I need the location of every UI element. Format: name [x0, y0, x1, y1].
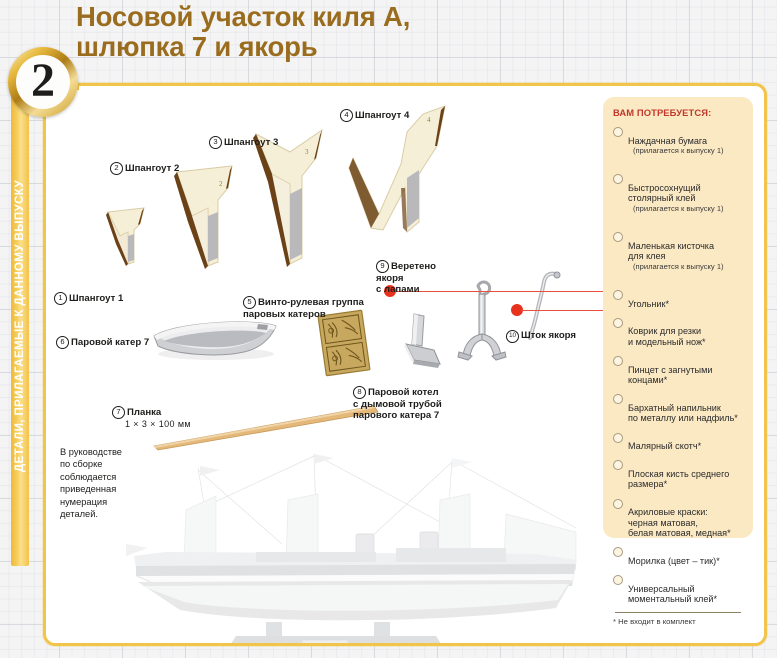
requirement-text: Маленькая кисточка для клея (прилагается… [628, 230, 724, 281]
part-name-6: Паровой катер 7 [71, 337, 149, 348]
requirement-label: Универсальный моментальный клей* [628, 584, 717, 605]
part-image-etched-fret [321, 312, 367, 374]
part-number-5: 5 [243, 296, 256, 309]
part-number-8: 8 [353, 386, 366, 399]
issue-number-badge-inner: 2 [16, 55, 70, 109]
requirement-label: Угольник* [628, 299, 669, 309]
part-dimension-7: 1 × 3 × 100 мм [112, 419, 191, 431]
part-label-3: 3Шпангоут 3 [209, 124, 278, 149]
part-name-5: Винто-рулевая группа паровых катеров [243, 297, 364, 320]
part-label-8: 8Паровой котел с дымовой трубой парового… [353, 374, 503, 422]
checkbox-icon[interactable] [613, 547, 623, 557]
part-number-10: 10 [506, 330, 519, 343]
requirements-footnote: * Не входит в комплект [613, 617, 743, 626]
checkbox-icon[interactable] [613, 356, 623, 366]
requirements-panel: ВАМ ПОТРЕБУЕТСЯ: Наждачная бумага (прила… [603, 97, 753, 538]
part-label-2: 2Шпангоут 2 [110, 150, 179, 175]
part-label-1: 1Шпангоут 1 [54, 280, 123, 305]
part-image-frame-4: 4 [345, 102, 451, 240]
checkbox-icon[interactable] [613, 460, 623, 470]
requirement-item[interactable]: Коврик для резки и модельный нож* [613, 316, 743, 348]
requirement-label: Плоская кисть среднего размера* [628, 469, 729, 490]
checkbox-icon[interactable] [613, 290, 623, 300]
part-name-8: Паровой котел с дымовой трубой парового … [353, 387, 442, 422]
part-number-6: 6 [56, 336, 69, 349]
part-image-frame-1 [104, 206, 150, 268]
requirement-item[interactable]: Акриловые краски: черная матовая, белая … [613, 497, 743, 539]
checkbox-icon[interactable] [613, 318, 623, 328]
requirement-label: Акриловые краски: черная матовая, белая … [628, 507, 731, 538]
part-number-9: 9 [376, 260, 389, 273]
checkbox-icon[interactable] [613, 433, 623, 443]
requirement-text: Морилка (цвет – тик)* [628, 545, 720, 566]
requirement-label: Быстросохнущий столярный клей [628, 183, 701, 204]
requirement-label: Малярный скотч* [628, 441, 701, 451]
checkbox-icon[interactable] [613, 575, 623, 585]
requirement-item[interactable]: Наждачная бумага (прилагается к выпуску … [613, 125, 743, 166]
part-number-2: 2 [110, 162, 123, 175]
requirement-item[interactable]: Универсальный моментальный клей* [613, 573, 743, 605]
part-image-frame-2: 2 [172, 164, 238, 272]
side-tab-label: ДЕТАЛИ, ПРИЛАГАЕМЫЕ К ДАННОМУ ВЫПУСКУ [14, 180, 26, 472]
requirement-item[interactable]: Бархатный напильник по металлу или надфи… [613, 392, 743, 424]
part-label-7: 7Планка 1 × 3 × 100 мм [112, 394, 191, 442]
part-name-7: Планка [127, 407, 161, 418]
requirements-heading: ВАМ ПОТРЕБУЕТСЯ: [613, 107, 743, 118]
requirements-divider [615, 612, 741, 613]
requirement-text: Быстросохнущий столярный клей (прилагает… [628, 172, 724, 223]
checkbox-icon[interactable] [613, 127, 623, 137]
requirement-sub: (прилагается к выпуску 1) [628, 204, 724, 213]
requirement-text: Бархатный напильник по металлу или надфи… [628, 392, 738, 424]
checkbox-icon[interactable] [613, 174, 623, 184]
part-name-3: Шпангоут 3 [224, 137, 278, 148]
requirement-item[interactable]: Плоская кисть среднего размера* [613, 458, 743, 490]
content-frame: 2 3 4 [43, 83, 767, 646]
requirement-label: Морилка (цвет – тик)* [628, 556, 720, 566]
part-label-4: 4Шпангоут 4 [340, 97, 409, 122]
requirement-label: Наждачная бумага [628, 136, 707, 146]
requirement-item[interactable]: Малярный скотч* [613, 431, 743, 452]
part-label-6: 6Паровой катер 7 [56, 324, 149, 349]
requirement-item[interactable]: Пинцет с загнутыми концами* [613, 354, 743, 386]
requirement-text: Угольник* [628, 288, 669, 309]
part-number-4: 4 [340, 109, 353, 122]
part-name-4: Шпангоут 4 [355, 110, 409, 121]
requirement-item[interactable]: Угольник* [613, 288, 743, 309]
issue-number-badge: 2 [8, 47, 78, 117]
part-number-3: 3 [209, 136, 222, 149]
svg-text:4: 4 [427, 116, 431, 124]
checkbox-icon[interactable] [613, 394, 623, 404]
checkbox-icon[interactable] [613, 499, 623, 509]
requirement-text: Пинцет с загнутыми концами* [628, 354, 712, 386]
checkbox-icon[interactable] [613, 232, 623, 242]
requirement-text: Коврик для резки и модельный нож* [628, 316, 706, 348]
part-image-frame-3: 3 [250, 128, 328, 268]
requirement-text: Акриловые краски: черная матовая, белая … [628, 497, 731, 539]
part-name-10: Шток якоря [521, 330, 576, 341]
part-name-1: Шпангоут 1 [69, 293, 123, 304]
requirement-item[interactable]: Морилка (цвет – тик)* [613, 545, 743, 566]
requirement-text: Универсальный моментальный клей* [628, 573, 717, 605]
part-image-boiler [400, 312, 452, 376]
part-name-2: Шпангоут 2 [125, 163, 179, 174]
ship-model-image [106, 448, 584, 646]
requirement-item[interactable]: Маленькая кисточка для клея (прилагается… [613, 230, 743, 281]
svg-text:3: 3 [305, 148, 309, 156]
page-title: Носовой участок киля А, шлюпка 7 и якорь [76, 2, 576, 62]
part-number-7: 7 [112, 406, 125, 419]
requirement-label: Бархатный напильник по металлу или надфи… [628, 403, 738, 424]
requirement-text: Малярный скотч* [628, 431, 701, 452]
part-label-10: 10Шток якоря [506, 318, 576, 343]
part-label-5: 5Винто-рулевая группа паровых катеров [243, 284, 393, 320]
requirement-sub: (прилагается к выпуску 1) [628, 262, 724, 271]
requirement-label: Пинцет с загнутыми концами* [628, 365, 712, 386]
requirement-label: Коврик для резки и модельный нож* [628, 326, 706, 347]
requirement-item[interactable]: Быстросохнущий столярный клей (прилагает… [613, 172, 743, 223]
issue-number: 2 [31, 57, 55, 105]
requirement-text: Наждачная бумага (прилагается к выпуску … [628, 125, 724, 166]
requirement-label: Маленькая кисточка для клея [628, 241, 714, 262]
numbering-note: В руководстве по сборке соблюдается прив… [60, 446, 152, 520]
requirement-sub: (прилагается к выпуску 1) [628, 146, 724, 155]
part-image-steam-launch [150, 314, 280, 362]
requirement-text: Плоская кисть среднего размера* [628, 458, 729, 490]
side-tab: ДЕТАЛИ, ПРИЛАГАЕМЫЕ К ДАННОМУ ВЫПУСКУ [11, 86, 29, 566]
part-number-1: 1 [54, 292, 67, 305]
svg-text:2: 2 [219, 180, 223, 188]
part-label-9: 9Веретено якоря с лапами [376, 248, 466, 296]
